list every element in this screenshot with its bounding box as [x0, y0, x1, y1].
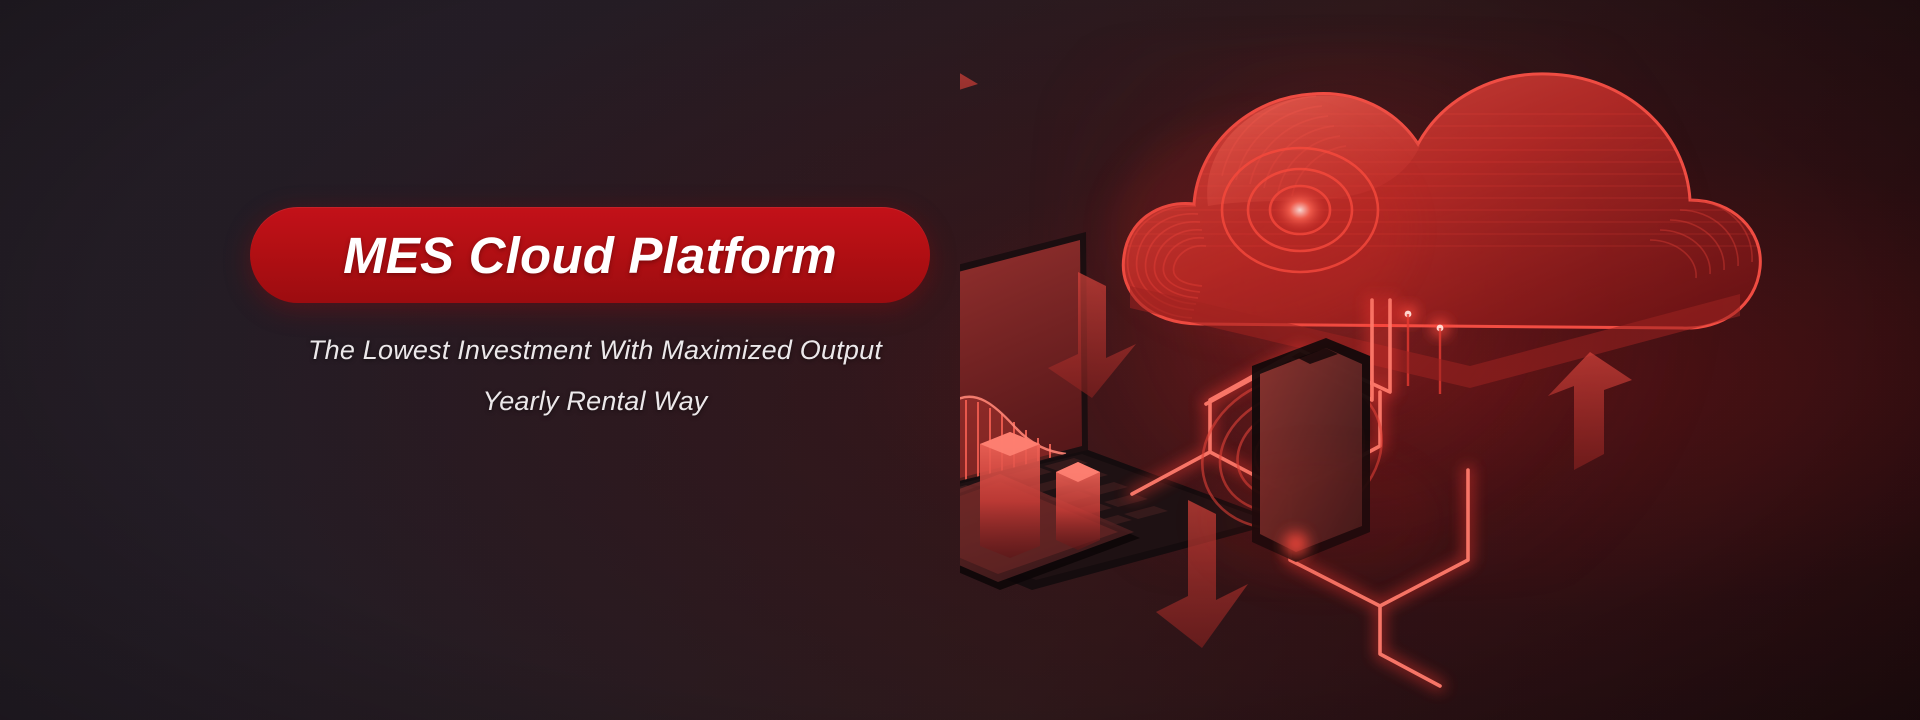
bar-2 [980, 432, 1040, 558]
title-pill: MES Cloud Platform [250, 207, 930, 303]
isometric-illustration [960, 0, 1920, 720]
subtitle-line-2: Yearly Rental Way [250, 376, 940, 427]
subtitle-line-1: The Lowest Investment With Maximized Out… [308, 335, 882, 365]
arrow-up-icon [960, 54, 978, 186]
bar-3 [1056, 462, 1100, 550]
hero-banner: MES Cloud Platform The Lowest Investment… [0, 0, 1920, 720]
page-title: MES Cloud Platform [343, 226, 837, 285]
arrow-up-icon-2 [1548, 352, 1632, 470]
hero-subtitle: The Lowest Investment With Maximized Out… [250, 325, 940, 427]
hero-text-block: MES Cloud Platform The Lowest Investment… [0, 0, 960, 720]
